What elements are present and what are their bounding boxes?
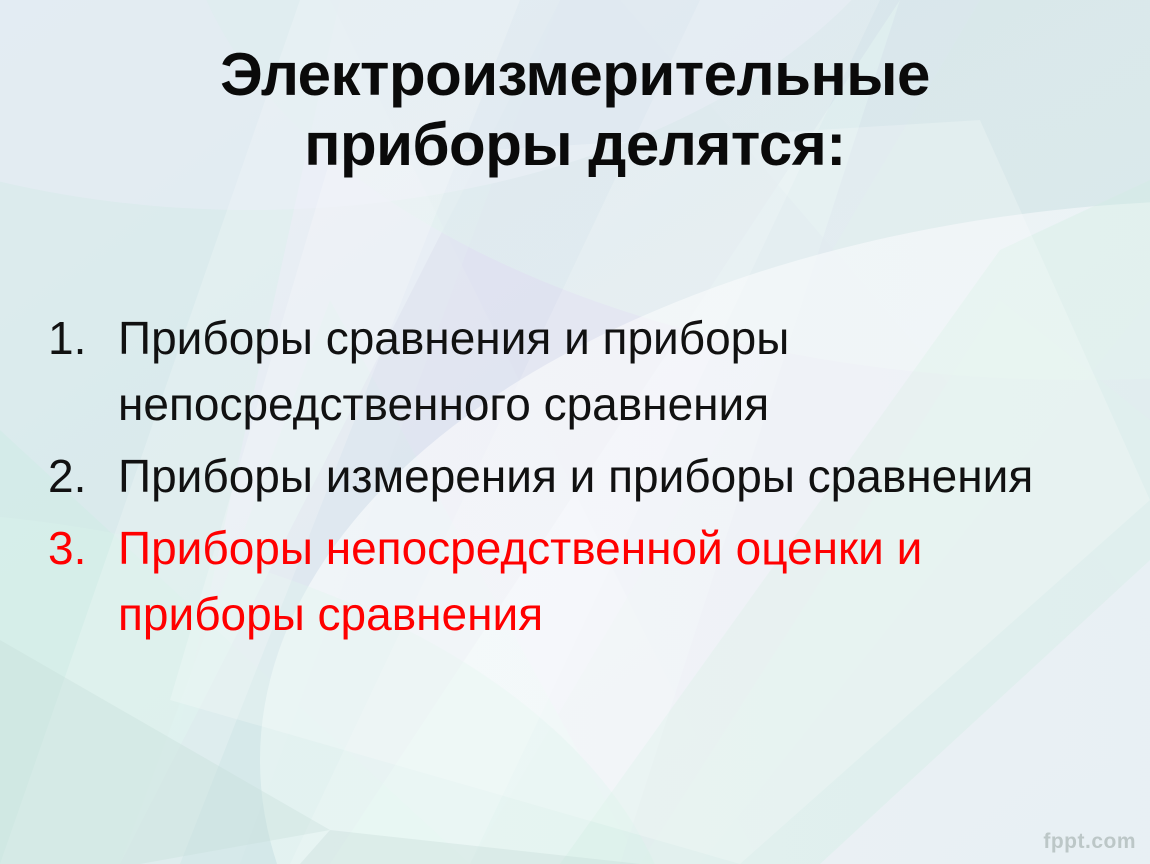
list-item-marker: 1.	[44, 305, 118, 371]
presentation-slide: Электроизмерительные приборы делятся: 1.…	[0, 0, 1150, 864]
list-item: 1. Приборы сравнения и приборы непосредс…	[44, 305, 1104, 437]
slide-title: Электроизмерительные приборы делятся:	[60, 40, 1090, 180]
title-line-2: приборы делятся:	[60, 110, 1090, 180]
list-item-highlighted: 3. Приборы непосредственной оценки и при…	[44, 515, 1104, 647]
list-item-text: Приборы сравнения и приборы непосредстве…	[118, 305, 1048, 437]
list-item-text: Приборы непосредственной оценки и прибор…	[118, 515, 1048, 647]
list-item-marker: 2.	[44, 443, 118, 509]
list-item-text: Приборы измерения и приборы сравнения	[118, 443, 1048, 509]
list-item: 2. Приборы измерения и приборы сравнения	[44, 443, 1104, 509]
numbered-list: 1. Приборы сравнения и приборы непосредс…	[44, 305, 1104, 653]
list-item-marker: 3.	[44, 515, 118, 581]
title-line-1: Электроизмерительные	[60, 40, 1090, 110]
watermark-fppt: fppt.com	[1043, 830, 1136, 854]
